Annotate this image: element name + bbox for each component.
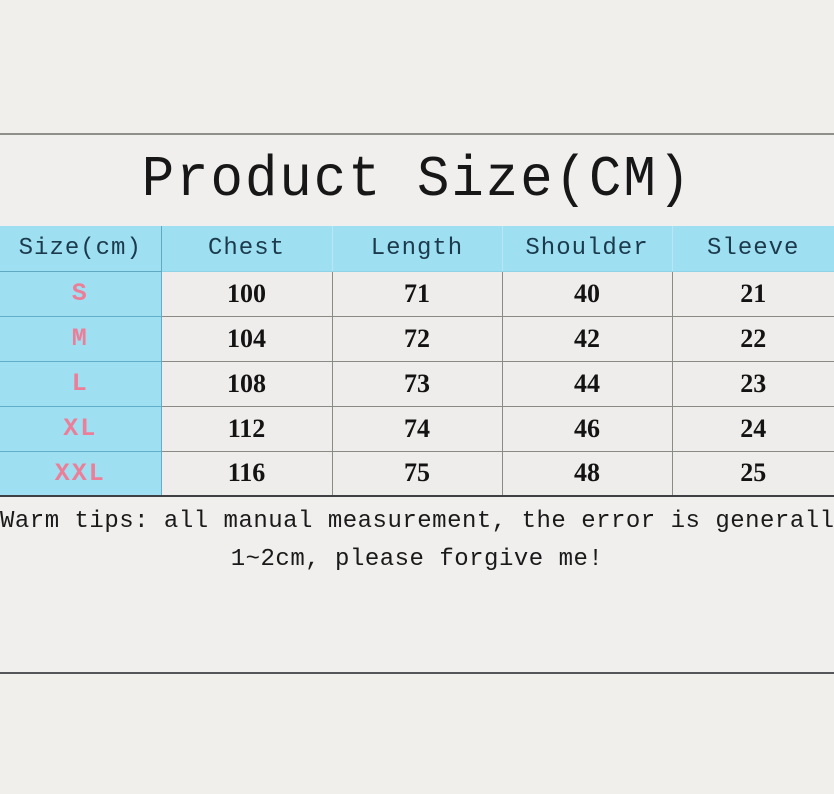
table-row: M 104 72 42 22	[0, 316, 834, 361]
cell-size: XL	[0, 406, 161, 451]
cell-size: L	[0, 361, 161, 406]
size-chart-panel: Product Size(CM) Size(cm) Chest Length S…	[0, 135, 834, 672]
top-blank-band	[0, 0, 834, 134]
cell-length: 72	[332, 316, 502, 361]
cell-length: 73	[332, 361, 502, 406]
table-body: S 100 71 40 21 M 104 72 42 22 L 108 73	[0, 271, 834, 496]
cell-sleeve: 21	[672, 271, 834, 316]
table-row: XL 112 74 46 24	[0, 406, 834, 451]
column-header-sleeve: Sleeve	[672, 226, 834, 271]
column-header-shoulder: Shoulder	[502, 226, 672, 271]
cell-shoulder: 42	[502, 316, 672, 361]
warm-tips: Warm tips: all manual measurement, the e…	[0, 503, 834, 579]
cell-size: M	[0, 316, 161, 361]
cell-length: 75	[332, 451, 502, 496]
bottom-blank-band	[0, 674, 834, 794]
size-chart-page: Product Size(CM) Size(cm) Chest Length S…	[0, 0, 834, 794]
cell-size: XXL	[0, 451, 161, 496]
cell-shoulder: 44	[502, 361, 672, 406]
table-row: S 100 71 40 21	[0, 271, 834, 316]
cell-chest: 116	[161, 451, 332, 496]
page-title-container: Product Size(CM)	[0, 135, 834, 226]
table-header-row: Size(cm) Chest Length Shoulder Sleeve	[0, 226, 834, 271]
table-header: Size(cm) Chest Length Shoulder Sleeve	[0, 226, 834, 271]
cell-shoulder: 40	[502, 271, 672, 316]
warm-tips-line-2: 1~2cm, please forgive me!	[0, 541, 834, 579]
cell-chest: 104	[161, 316, 332, 361]
cell-sleeve: 23	[672, 361, 834, 406]
cell-chest: 112	[161, 406, 332, 451]
table-row: XXL 116 75 48 25	[0, 451, 834, 496]
table-row: L 108 73 44 23	[0, 361, 834, 406]
column-header-size: Size(cm)	[0, 226, 161, 271]
cell-chest: 100	[161, 271, 332, 316]
cell-size: S	[0, 271, 161, 316]
page-title: Product Size(CM)	[142, 152, 692, 209]
cell-shoulder: 48	[502, 451, 672, 496]
cell-length: 74	[332, 406, 502, 451]
product-size-table: Size(cm) Chest Length Shoulder Sleeve S …	[0, 226, 834, 497]
cell-sleeve: 25	[672, 451, 834, 496]
warm-tips-line-1: Warm tips: all manual measurement, the e…	[0, 503, 834, 541]
cell-sleeve: 24	[672, 406, 834, 451]
cell-shoulder: 46	[502, 406, 672, 451]
column-header-length: Length	[332, 226, 502, 271]
cell-chest: 108	[161, 361, 332, 406]
cell-length: 71	[332, 271, 502, 316]
cell-sleeve: 22	[672, 316, 834, 361]
column-header-chest: Chest	[161, 226, 332, 271]
